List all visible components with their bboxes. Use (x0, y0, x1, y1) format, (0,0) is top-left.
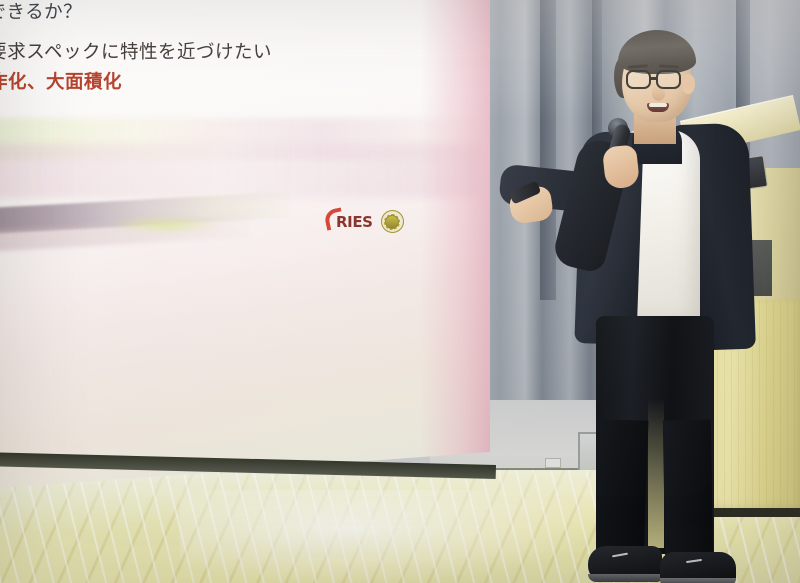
left-sneaker-sole (588, 574, 662, 582)
trousers-leg-gap (648, 398, 664, 548)
projection-screen: にジャンプできるか？ あるので、要求スペックに特性を近づけたい 化、高速動作化、… (0, 0, 490, 492)
speaker-figure (500, 20, 800, 583)
eyeglasses-bridge (650, 77, 658, 80)
projected-slide: にジャンプできるか？ あるので、要求スペックに特性を近づけたい 化、高速動作化、… (0, 0, 460, 462)
slide-line-highlight: 化、高速動作化、大面積化 (0, 70, 314, 96)
ear (682, 74, 695, 94)
eyeglasses-left-lens (626, 70, 651, 89)
left-leg (598, 419, 649, 563)
presentation-photo-scene: にジャンプできるか？ あるので、要求スペックに特性を近づけたい 化、高速動作化、… (0, 0, 800, 583)
university-seal-icon (381, 210, 404, 233)
slide-logo-group: RIES (336, 210, 404, 233)
ries-wordmark: RIES (336, 213, 373, 231)
slide-color-band-lower (0, 144, 480, 198)
slide-line-question: にジャンプできるか？ (0, 0, 314, 26)
right-leg (663, 420, 713, 563)
swoosh-icon (323, 207, 345, 230)
slide-green-highlight (110, 216, 220, 234)
slide-line-body: あるので、要求スペックに特性を近づけたい (0, 40, 314, 66)
slide-text-block: にジャンプできるか？ あるので、要求スペックに特性を近づけたい 化、高速動作化、… (0, 0, 314, 96)
right-sneaker-sole (660, 578, 736, 583)
mouth (647, 103, 669, 112)
nose (652, 86, 665, 101)
